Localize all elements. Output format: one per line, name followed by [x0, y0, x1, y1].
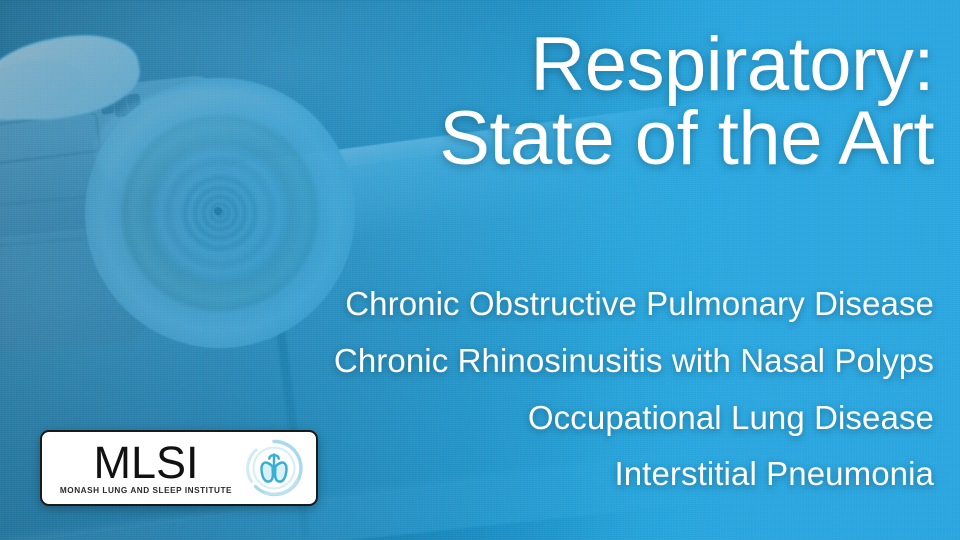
mlsi-wordmark: MLSI [93, 441, 198, 484]
lungs-in-circle-icon [242, 436, 306, 500]
topic-item-copd: Chronic Obstructive Pulmonary Disease [114, 276, 934, 333]
topic-item-crswnp: Chronic Rhinosinusitis with Nasal Polyps [114, 333, 934, 390]
title-line-2: State of the Art [234, 102, 934, 176]
title-line-1: Respiratory: [234, 28, 934, 102]
title-block: Respiratory: State of the Art [234, 28, 934, 177]
mlsi-logo: MLSI MONASH LUNG AND SLEEP INSTITUTE [40, 430, 318, 506]
mlsi-tagline: MONASH LUNG AND SLEEP INSTITUTE [60, 486, 232, 495]
slide-title: Respiratory: State of the Art [234, 28, 934, 177]
mlsi-wordmark-group: MLSI MONASH LUNG AND SLEEP INSTITUTE [56, 441, 242, 495]
presentation-title-slide: Respiratory: State of the Art Chronic Ob… [0, 0, 960, 540]
